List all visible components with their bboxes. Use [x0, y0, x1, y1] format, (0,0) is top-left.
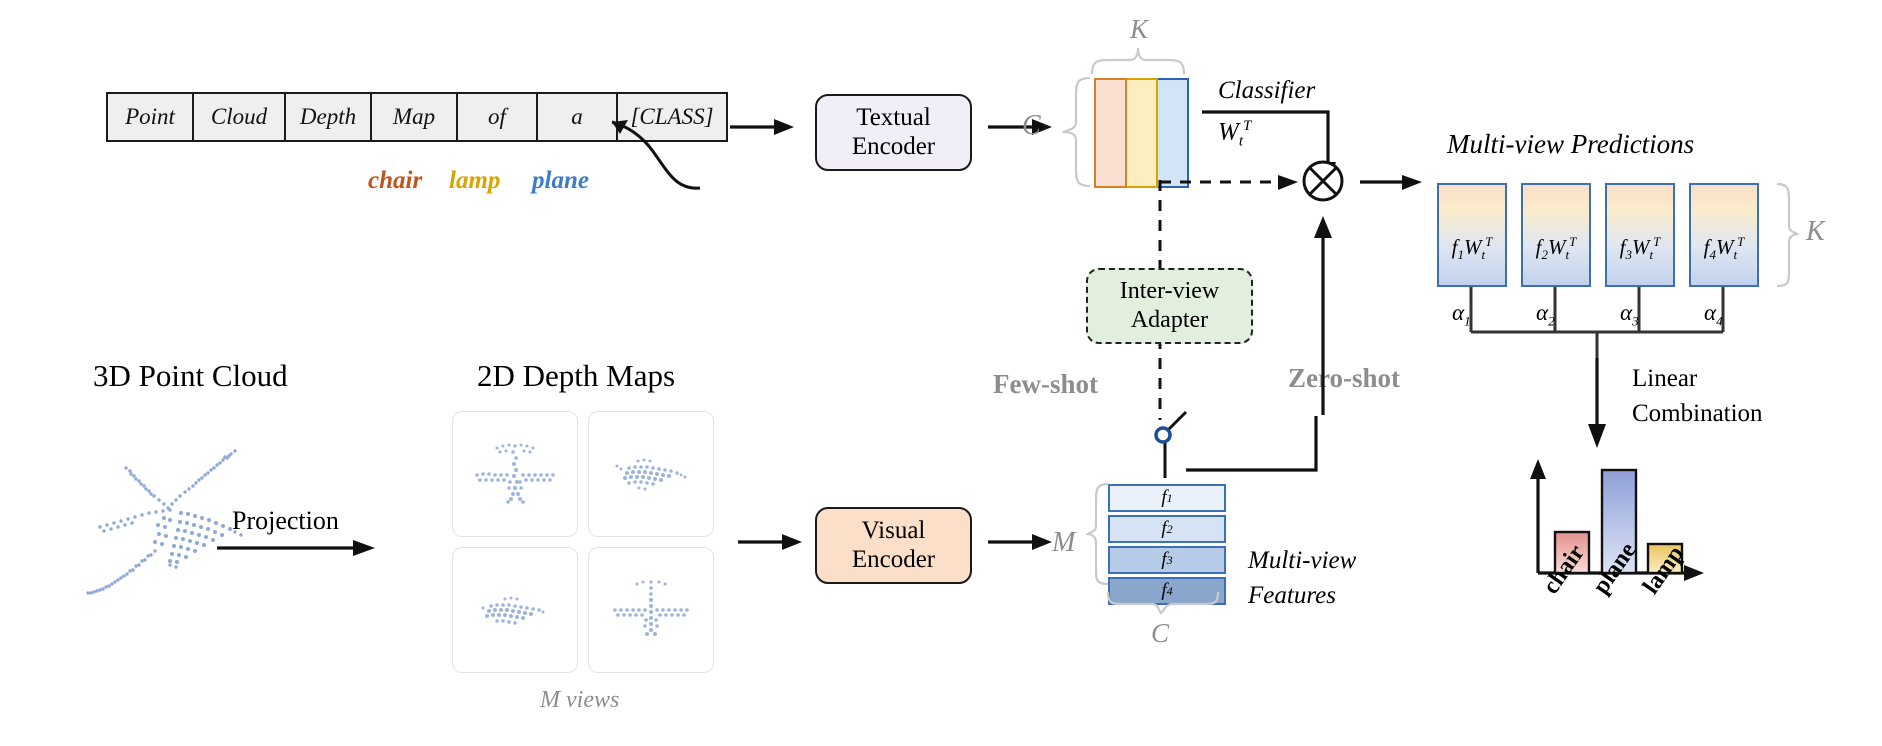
- textual-encoder-line1: Textual: [852, 104, 935, 133]
- depth-map-4-points: [589, 548, 713, 672]
- prompt-token-3: Map: [372, 94, 458, 140]
- predictions-title: Multi-view Predictions: [1447, 129, 1694, 160]
- depth-map-view-1: [452, 411, 578, 537]
- class-word-plane: plane: [532, 167, 589, 195]
- multi-view-prediction-boxes: f1WtT f2WtT f3WtT f4WtT: [1437, 183, 1759, 287]
- features-caption-line1: Multi-view: [1248, 547, 1356, 575]
- features-c-brace: [1106, 592, 1224, 614]
- depth-map-3-points: [453, 548, 577, 672]
- predictions-k-label: K: [1806, 216, 1825, 248]
- classifier-column-plane: [1158, 78, 1189, 188]
- feature-row-2: f2: [1108, 515, 1226, 543]
- features-c-label: C: [1151, 618, 1169, 649]
- class-word-lamp: lamp: [449, 167, 500, 195]
- prompt-token-1: Cloud: [194, 94, 286, 140]
- feature-row-1: f1: [1108, 484, 1226, 512]
- depth-map-view-3: [452, 547, 578, 673]
- feature-row-3: f3: [1108, 546, 1226, 574]
- adapter-line2: Adapter: [1120, 306, 1219, 335]
- visual-encoder-box: Visual Encoder: [815, 507, 972, 584]
- features-m-brace: [1088, 482, 1110, 588]
- alpha-label-2: α2: [1536, 300, 1555, 330]
- depth-map-1-points: [453, 412, 577, 536]
- prediction-box-4: f4WtT: [1689, 183, 1759, 287]
- classifier-c-label: C: [1022, 110, 1041, 142]
- visual-encoder-line1: Visual: [852, 517, 935, 546]
- classifier-title: Classifier: [1218, 77, 1315, 105]
- prediction-box-1: f1WtT: [1437, 183, 1507, 287]
- prompt-token-2: Depth: [286, 94, 372, 140]
- features-m-label: M: [1052, 527, 1075, 559]
- m-views-caption: M views: [540, 687, 619, 714]
- linear-combination-line1: Linear: [1632, 365, 1697, 393]
- depth-map-view-4: [588, 547, 714, 673]
- alpha-label-4: α4: [1704, 300, 1723, 330]
- chart-x-arrowhead: [1684, 565, 1704, 581]
- few-shot-label: Few-shot: [993, 369, 1098, 400]
- arrow-prompt-to-textual-encoder: [730, 113, 800, 143]
- predictions-k-brace: [1775, 182, 1799, 290]
- arrow-depthmaps-to-visual-encoder: [738, 528, 808, 558]
- prompt-token-0: Point: [108, 94, 194, 140]
- zero-shot-to-multiply-arrow: [1300, 210, 1346, 420]
- multi-view-feature-stack: f1 f2 f3 f4: [1108, 484, 1226, 605]
- adapter-line1: Inter-view: [1120, 277, 1219, 306]
- depth-map-view-2: [588, 411, 714, 537]
- adapter-vertical-dashed-line: [1152, 175, 1172, 275]
- features-caption-line2: Features: [1248, 582, 1336, 610]
- chart-y-arrowhead: [1530, 459, 1546, 479]
- visual-encoder-line2: Encoder: [852, 546, 935, 575]
- classifier-column-chair: [1094, 78, 1127, 188]
- textual-encoder-line2: Encoder: [852, 133, 935, 162]
- adapter-to-multiply-dashed-arrow: [1160, 175, 1310, 205]
- arrow-visual-encoder-to-features: [988, 528, 1058, 558]
- alpha-label-3: α3: [1620, 300, 1639, 330]
- point-cloud-title: 3D Point Cloud: [93, 358, 288, 394]
- classifier-c-brace: [1062, 76, 1092, 188]
- alpha-combination-tree: [1437, 287, 1797, 365]
- prediction-box-2: f2WtT: [1521, 183, 1591, 287]
- projection-arrow: [217, 538, 382, 564]
- arrow-multiply-to-predictions: [1360, 175, 1430, 205]
- prediction-box-3: f3WtT: [1605, 183, 1675, 287]
- projection-label: Projection: [232, 506, 339, 536]
- linear-combination-arrow: [1580, 358, 1616, 450]
- prompt-token-4: of: [458, 94, 538, 140]
- depth-maps-title: 2D Depth Maps: [477, 358, 675, 394]
- class-substitution-arrow: [590, 110, 710, 200]
- inter-view-adapter-box: Inter-view Adapter: [1086, 268, 1253, 344]
- classifier-k-brace: [1090, 46, 1190, 76]
- alpha-label-1: α1: [1452, 300, 1471, 330]
- textual-encoder-box: Textual Encoder: [815, 94, 972, 171]
- classifier-k-label: K: [1130, 14, 1148, 45]
- depth-map-2-points: [589, 412, 713, 536]
- class-word-chair: chair: [368, 167, 422, 195]
- classifier-weight-matrix: [1094, 78, 1189, 188]
- classifier-column-lamp: [1127, 78, 1158, 188]
- linear-combination-line2: Combination: [1632, 400, 1763, 428]
